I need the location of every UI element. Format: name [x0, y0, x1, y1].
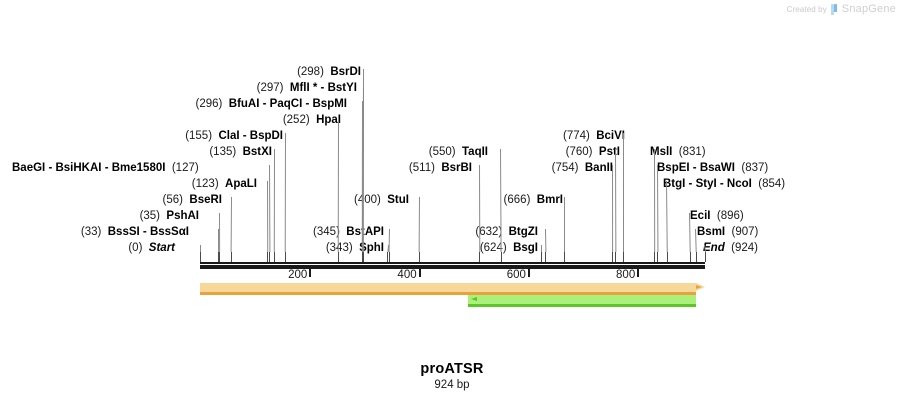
cut-site-tick: [231, 252, 232, 262]
enzyme-label[interactable]: (624) BsgI: [480, 242, 538, 254]
enzyme-name[interactable]: BtgZI: [509, 226, 538, 238]
snapgene-brand: SnapGene: [842, 3, 896, 15]
enzyme-label[interactable]: BtgI - StyI - NcoI (854): [663, 178, 785, 190]
enzyme-separator: -: [717, 178, 727, 190]
enzyme-name[interactable]: StuI: [387, 194, 409, 206]
enzyme-label[interactable]: (666) BmrI: [504, 194, 563, 206]
leader-line: [564, 197, 565, 252]
enzyme-label[interactable]: (550) TaqII: [429, 146, 488, 158]
cut-site-tick: [501, 252, 502, 262]
enzyme-name[interactable]: TaqII: [462, 146, 488, 158]
enzyme-label[interactable]: EciI (896): [690, 210, 744, 222]
leader-line: [219, 213, 220, 252]
enzyme-separator: -: [690, 162, 700, 174]
leader-line: [363, 69, 364, 252]
enzyme-label[interactable]: (297) MflI * - BstYI: [257, 82, 357, 94]
enzyme-label[interactable]: (33) BssSI - BssSαI: [81, 226, 189, 238]
enzyme-position: (252): [283, 114, 310, 126]
cut-site-tick: [545, 252, 546, 262]
leader-line: [541, 245, 542, 252]
enzyme-position: (155): [185, 130, 212, 142]
enzyme-name[interactable]: BseRI: [189, 194, 222, 206]
enzyme-name[interactable]: BstXI: [243, 146, 272, 158]
enzyme-name[interactable]: Bme1580I: [112, 162, 166, 174]
enzyme-name[interactable]: BsaWI: [700, 162, 735, 174]
cut-site-tick: [363, 252, 364, 262]
feature-shaft-outline: [468, 295, 696, 304]
feature-shaft-core: [468, 304, 696, 307]
enzyme-position: (907): [732, 226, 759, 238]
enzyme-label[interactable]: (135) BstXI: [209, 146, 272, 158]
cut-site-tick: [541, 252, 542, 262]
cut-site-tick: [654, 252, 655, 262]
enzyme-name[interactable]: NcoI: [727, 178, 752, 190]
leader-line: [267, 181, 268, 252]
enzyme-name[interactable]: BsiHKAI: [55, 162, 101, 174]
page-title: proATSR: [0, 361, 904, 377]
enzyme-position: (343): [326, 242, 353, 254]
ruler-tick-600: [528, 269, 530, 277]
enzyme-position: (298): [297, 66, 324, 78]
enzyme-label[interactable]: End (924): [703, 242, 758, 254]
enzyme-label[interactable]: (35) PshAI: [140, 210, 199, 222]
ruler-tick-200: [309, 269, 311, 277]
leader-line: [612, 165, 613, 252]
enzyme-position: (760): [566, 146, 593, 158]
enzyme-name[interactable]: BssSI: [108, 226, 140, 238]
enzyme-position: (774): [563, 130, 590, 142]
feature-arrowhead-core: [696, 285, 702, 289]
reverse-feature[interactable]: [468, 295, 705, 304]
enzyme-position: (400): [354, 194, 381, 206]
cut-site-tick: [623, 252, 624, 262]
enzyme-position: (33): [81, 226, 101, 238]
enzyme-position: (550): [429, 146, 456, 158]
ruler-label-400: 400: [397, 269, 416, 281]
feature-shaft-outline: [200, 283, 696, 292]
enzyme-position: (924): [731, 242, 758, 254]
enzyme-label[interactable]: (0) Start: [128, 242, 175, 254]
enzyme-name[interactable]: EciI: [690, 210, 710, 222]
cut-site-tick: [615, 252, 616, 262]
cut-site-tick: [338, 252, 339, 262]
cut-site-tick: [219, 252, 220, 262]
enzyme-name[interactable]: End: [703, 242, 725, 254]
cut-site-tick: [274, 252, 275, 262]
enzyme-name[interactable]: BciVI: [596, 130, 625, 142]
enzyme-name[interactable]: ClaI: [218, 130, 239, 142]
enzyme-position: (56): [163, 194, 183, 206]
enzyme-label[interactable]: (511) BsrBI: [409, 162, 472, 174]
enzyme-separator: -: [102, 162, 112, 174]
cut-site-tick: [479, 252, 480, 262]
cut-site-tick: [419, 252, 420, 262]
enzyme-name[interactable]: PstI: [599, 146, 620, 158]
sequence-length: 924 bp: [0, 379, 904, 391]
enzyme-position: (854): [758, 178, 785, 190]
enzyme-position: (666): [504, 194, 531, 206]
enzyme-position: (511): [409, 162, 435, 174]
enzyme-separator: -: [317, 82, 327, 94]
enzyme-position: (0): [128, 242, 142, 254]
enzyme-position: (296): [196, 98, 223, 110]
cut-site-tick: [705, 252, 706, 262]
enzyme-name[interactable]: StyI: [696, 178, 717, 190]
cut-site-tick: [667, 252, 668, 262]
enzyme-label[interactable]: (774) BciVI: [563, 130, 625, 142]
enzyme-name[interactable]: BsrBI: [441, 162, 472, 174]
enzyme-name[interactable]: PaqCI: [270, 98, 303, 110]
enzyme-position: (123): [192, 178, 219, 190]
enzyme-name[interactable]: ApaLI: [225, 178, 257, 190]
leader-line: [654, 149, 655, 252]
enzyme-label[interactable]: (56) BseRI: [163, 194, 222, 206]
enzyme-name[interactable]: BspEI: [657, 162, 690, 174]
enzyme-position: (896): [717, 210, 744, 222]
snapgene-logo-icon: [831, 4, 838, 15]
snapgene-credit: Created by SnapGene: [787, 3, 896, 15]
enzyme-name[interactable]: BaeGI: [12, 162, 45, 174]
backbone-thin-line: [200, 262, 705, 264]
enzyme-separator: -: [302, 98, 312, 110]
enzyme-name[interactable]: BsmI: [697, 226, 725, 238]
enzyme-position: (297): [257, 82, 284, 94]
enzyme-name[interactable]: BanII: [585, 162, 613, 174]
ruler-tick-800: [637, 269, 639, 277]
leader-line: [274, 149, 275, 252]
cut-site-tick: [612, 252, 613, 262]
enzyme-position: (35): [140, 210, 160, 222]
cut-site-tick: [564, 252, 565, 262]
cut-site-tick: [389, 252, 390, 262]
enzyme-label[interactable]: MslI (831): [650, 146, 706, 158]
enzyme-label[interactable]: (754) BanII: [552, 162, 613, 174]
leader-line: [200, 245, 201, 252]
enzyme-name[interactable]: BstYI: [328, 82, 357, 94]
cut-site-tick: [285, 252, 286, 262]
ruler-label-200: 200: [288, 269, 307, 281]
feature-arrowhead-core: [471, 297, 477, 301]
cut-site-tick: [657, 252, 658, 262]
enzyme-separator: -: [685, 178, 695, 190]
enzyme-name[interactable]: BmrI: [537, 194, 563, 206]
ruler-label-600: 600: [507, 269, 526, 281]
enzyme-label[interactable]: (298) BsrDI: [297, 66, 361, 78]
enzyme-separator: -: [240, 130, 250, 142]
enzyme-label[interactable]: BaeGI - BsiHKAI - Bme1580I (127): [12, 162, 199, 174]
enzyme-label[interactable]: (632) BtgZI: [475, 226, 538, 238]
enzyme-label[interactable]: (252) HpaI: [283, 114, 341, 126]
enzyme-label[interactable]: (343) SphI: [326, 242, 384, 254]
enzyme-separator: -: [45, 162, 55, 174]
backbone-thick-line: [200, 265, 705, 269]
enzyme-label[interactable]: (760) PstI: [566, 146, 620, 158]
cut-site-tick: [696, 252, 697, 262]
enzyme-name[interactable]: PshAI: [166, 210, 199, 222]
enzyme-label[interactable]: (345) BstAPI: [313, 226, 384, 238]
cut-site-tick: [269, 252, 270, 262]
enzyme-separator: -: [140, 226, 150, 238]
enzyme-position: (837): [741, 162, 768, 174]
forward-feature[interactable]: [200, 283, 705, 292]
enzyme-position: (135): [209, 146, 236, 158]
enzyme-label[interactable]: BsmI (907): [697, 226, 758, 238]
ruler-tick-400: [419, 269, 421, 277]
cut-site-tick: [267, 252, 268, 262]
enzyme-position: (127): [172, 162, 199, 174]
enzyme-separator: -: [259, 98, 269, 110]
enzyme-label[interactable]: (155) ClaI - BspDI: [185, 130, 283, 142]
enzyme-name[interactable]: BspMI: [313, 98, 348, 110]
enzyme-name[interactable]: BfuAI: [229, 98, 260, 110]
enzyme-label[interactable]: (296) BfuAI - PaqCI - BspMI: [196, 98, 347, 110]
cut-site-tick: [200, 252, 201, 262]
enzyme-position: (345): [313, 226, 340, 238]
restriction-map-canvas: [0, 0, 904, 400]
enzyme-name[interactable]: MflI *: [290, 82, 317, 94]
cut-site-tick: [690, 252, 691, 262]
enzyme-label[interactable]: (123) ApaLI: [192, 178, 257, 190]
enzyme-label[interactable]: BspEI - BsaWI (837): [657, 162, 768, 174]
enzyme-name[interactable]: BsgI: [513, 242, 538, 254]
leader-line: [623, 133, 624, 252]
credit-prefix: Created by: [787, 5, 827, 14]
enzyme-position: (624): [480, 242, 507, 254]
ruler-label-800: 800: [616, 269, 635, 281]
enzyme-position: (754): [552, 162, 579, 174]
enzyme-name[interactable]: Start: [149, 242, 175, 254]
enzyme-name[interactable]: BssSαI: [150, 226, 189, 238]
enzyme-name[interactable]: BstAPI: [346, 226, 384, 238]
enzyme-name[interactable]: BsrDI: [330, 66, 361, 78]
enzyme-name[interactable]: BspDI: [250, 130, 283, 142]
enzyme-position: (831): [679, 146, 706, 158]
